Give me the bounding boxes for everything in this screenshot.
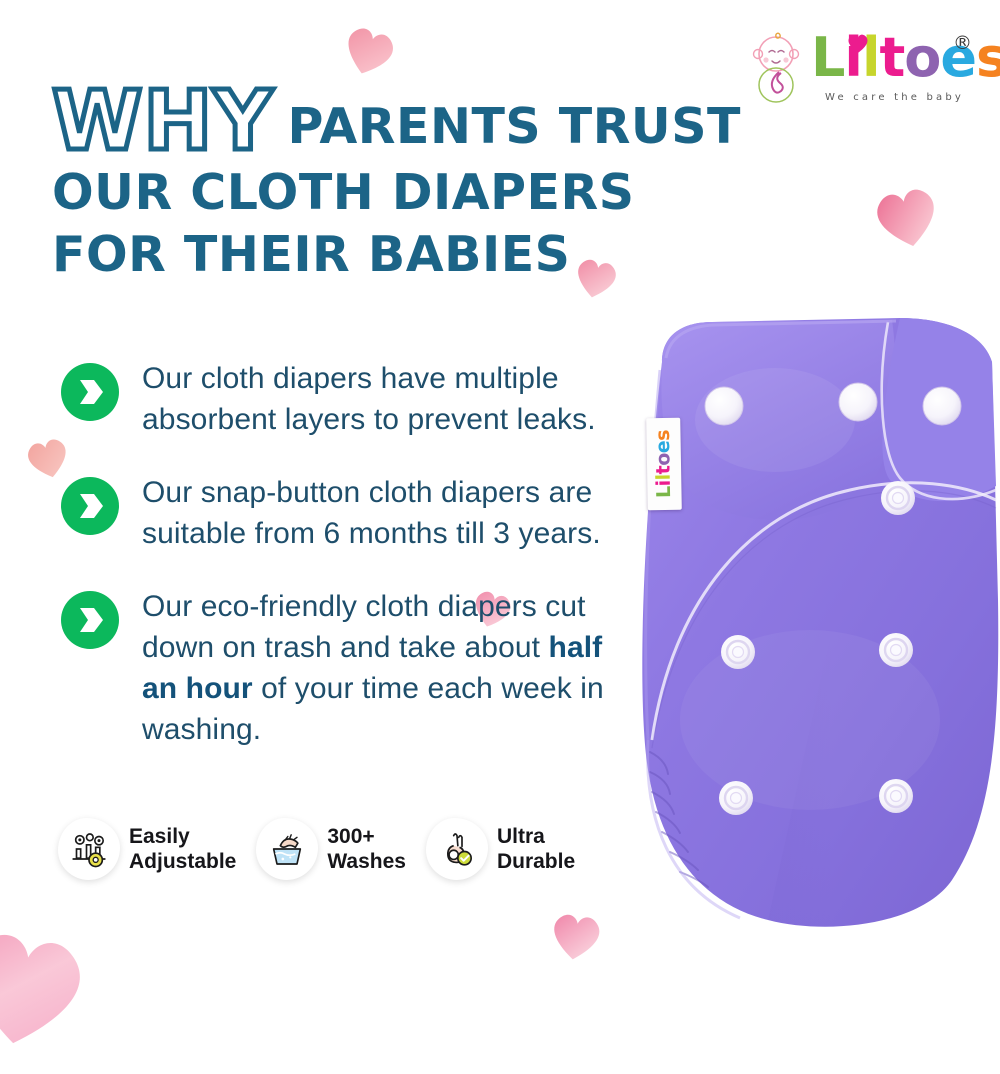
badge-label: Ultra Durable: [497, 824, 575, 874]
registered-mark: ®: [953, 32, 972, 54]
feature-badges: Easily Adjustable 300+ Washes: [58, 818, 575, 880]
ok-hand-check-icon: [426, 818, 488, 880]
brand-letter: t: [655, 466, 674, 475]
watercolor-heart-icon: [861, 171, 954, 264]
brand-letter: l: [655, 474, 674, 480]
brand-letter: t: [879, 28, 904, 88]
brand-letter: s: [654, 430, 673, 441]
heart-icon: [845, 30, 871, 54]
brand-letter: i: [655, 480, 674, 486]
poster-canvas: Liltoes We care the baby ® WHY PARENTS T…: [0, 0, 1000, 1000]
chevron-arrow-icon: [60, 476, 120, 536]
brand-letter: L: [655, 486, 674, 498]
brand-logo: Liltoes We care the baby ®: [745, 26, 975, 114]
headline-why-outline: WHY: [52, 82, 273, 162]
brand-letter: o: [654, 453, 673, 466]
headline-line3: FOR THEIR BABIES: [52, 224, 702, 286]
badge-easily-adjustable: Easily Adjustable: [58, 818, 236, 880]
brand-letter: L: [811, 28, 844, 88]
badge-ultra-durable: Ultra Durable: [426, 818, 575, 880]
baby-face-icon: [745, 32, 807, 104]
benefit-text: Our eco-friendly cloth diapers cut down …: [142, 586, 620, 750]
chevron-arrow-icon: [60, 590, 120, 650]
watercolor-heart-icon: [0, 900, 110, 1074]
page-title: WHY PARENTS TRUST OUR CLOTH DIAPERS FOR …: [52, 78, 702, 286]
gears-settings-icon: [58, 818, 120, 880]
badge-label: 300+ Washes: [327, 824, 406, 874]
benefits-list: Our cloth diapers have multiple absorben…: [60, 358, 620, 750]
brand-letter: e: [654, 441, 673, 454]
benefit-item-eco-friendly-washing: Our eco-friendly cloth diapers cut down …: [60, 586, 620, 750]
benefit-item-snap-button-sizing: Our snap-button cloth diapers are suitab…: [60, 472, 620, 554]
benefit-text-emphasis: half an hour: [142, 631, 602, 705]
product-image-cloth-diaper: Liltoes: [600, 300, 1000, 940]
hand-wash-basin-icon: [256, 818, 318, 880]
badge-label: Easily Adjustable: [129, 824, 236, 874]
headline-line2: OUR CLOTH DIAPERS: [52, 162, 702, 224]
headline-line1-rest: PARENTS TRUST: [287, 101, 740, 162]
badge-washes-count: 300+ Washes: [256, 818, 406, 880]
benefit-text: Our cloth diapers have multiple absorben…: [142, 358, 620, 440]
product-brand-tag: Liltoes: [646, 418, 682, 511]
chevron-arrow-icon: [60, 362, 120, 422]
benefit-item-absorbent-layers: Our cloth diapers have multiple absorben…: [60, 358, 620, 440]
brand-letter: o: [904, 28, 940, 88]
benefit-text: Our snap-button cloth diapers are suitab…: [142, 472, 620, 554]
brand-tagline: We care the baby: [825, 92, 964, 103]
brand-letter: s: [976, 28, 1000, 88]
